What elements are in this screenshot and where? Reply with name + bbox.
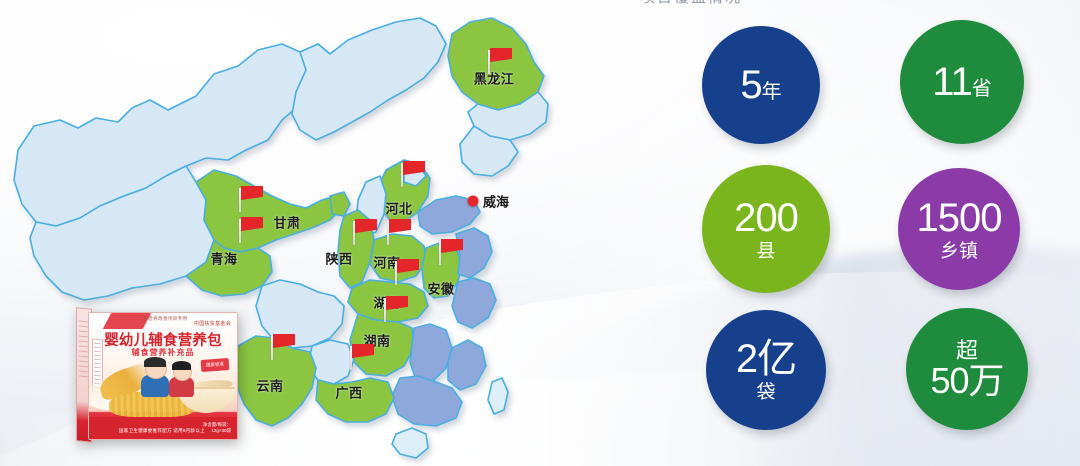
province-label: 河北 — [385, 199, 412, 218]
package-front-panel: 儿童营养改善项目专用 中国扶贫基金会 婴幼儿辅食营养包 辅食营养补充品 国家标准 — [88, 312, 238, 440]
stat-unit: 乡镇 — [917, 242, 1002, 261]
flag-marker-icon — [353, 219, 379, 245]
province-label: 云南 — [256, 376, 283, 395]
province-label: 甘肃 — [273, 213, 300, 232]
stat-circle-beneficiaries: 超50万 — [906, 308, 1028, 430]
package-net-weight: 净含量/每袋： 12g×30袋 — [203, 422, 231, 436]
stat-value: 1500 — [917, 198, 1002, 238]
stat-circle-townships: 1500乡镇 — [898, 168, 1020, 290]
flag-marker-icon — [239, 217, 265, 243]
city-label: 威海 — [483, 192, 509, 211]
flag-marker-icon — [387, 219, 413, 245]
flag-marker-icon — [239, 186, 265, 212]
stat-value: 2亿 — [736, 339, 796, 379]
stat-unit: 年 — [762, 81, 782, 103]
stat-unit: 省 — [972, 78, 992, 100]
package-brand: 中国扶贫基金会 — [194, 320, 231, 327]
stat-circle-packets: 2亿袋 — [706, 310, 826, 430]
stat-prefix: 超 — [930, 340, 1003, 362]
flag-marker-icon — [401, 161, 427, 187]
province-label: 安徽 — [427, 279, 454, 298]
province-label: 青海 — [210, 249, 237, 268]
province-label: 广西 — [335, 383, 362, 402]
flag-marker-icon — [488, 48, 514, 74]
flag-marker-icon — [395, 259, 421, 285]
stat-unit: 县 — [734, 242, 798, 261]
stat-value: 11省 — [932, 62, 992, 102]
slide-canvas: 项目覆盖情况 — [0, 0, 1080, 466]
flag-marker-icon — [439, 239, 465, 265]
package-footer-note: 国家卫生健康委推荐配方 适用6月龄以上 — [119, 428, 205, 434]
net-weight-label: 净含量/每袋： — [203, 422, 231, 427]
flag-marker-icon — [350, 344, 376, 370]
package-footer: 国家卫生健康委推荐配方 适用6月龄以上 净含量/每袋： 12g×30袋 — [89, 417, 237, 439]
child-illustration-2 — [167, 363, 201, 399]
net-weight-value: 12g×30袋 — [211, 428, 231, 433]
flag-marker-icon — [384, 296, 410, 322]
stat-value: 200 — [734, 198, 798, 238]
flag-marker-icon — [271, 334, 297, 360]
province-label: 陕西 — [325, 249, 352, 268]
city-dot-icon — [468, 196, 479, 207]
cropped-header-text: 项目覆盖情况 — [640, 0, 860, 4]
stat-value: 50万 — [930, 363, 1003, 399]
stat-value: 5年 — [740, 65, 781, 105]
stat-circle-provinces: 11省 — [900, 20, 1024, 144]
package-tagline: 儿童营养改善项目专用 — [139, 316, 188, 322]
product-package: 儿童营养改善项目专用 中国扶贫基金会 婴幼儿辅食营养包 辅食营养补充品 国家标准 — [76, 306, 242, 446]
package-artwork — [89, 355, 237, 417]
stat-circle-years: 5年 — [702, 26, 820, 144]
stat-unit: 袋 — [736, 383, 796, 402]
stat-circle-counties: 200县 — [702, 165, 830, 293]
